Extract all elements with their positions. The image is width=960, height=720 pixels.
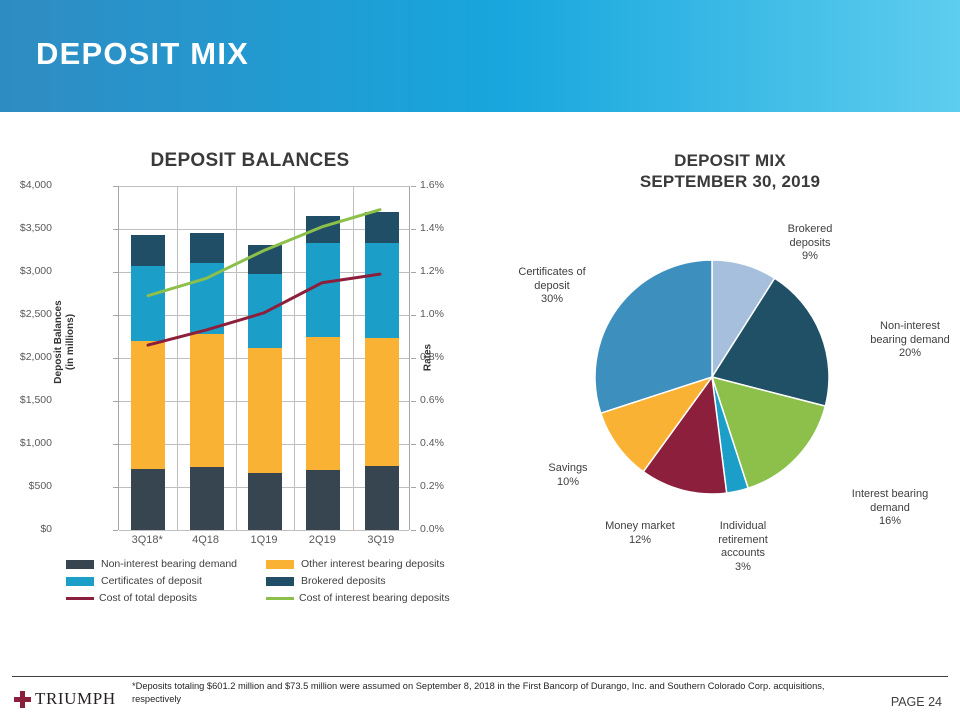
y2-axis-tick-label: 1.0% <box>420 308 444 320</box>
category-divider <box>177 186 178 530</box>
x-axis-label: 3Q19 <box>352 534 410 546</box>
legend-label: Cost of total deposits <box>99 592 197 604</box>
triumph-logo: TRIUMPH <box>14 689 116 709</box>
bar-plot-area <box>118 186 410 530</box>
bar-column <box>190 186 224 530</box>
bar-segment <box>131 341 165 470</box>
legend-item: Brokered deposits <box>266 575 466 587</box>
y2-axis-tick <box>411 272 416 273</box>
bar-segment <box>190 467 224 530</box>
legend-row: Non-interest bearing demandOther interes… <box>66 558 466 570</box>
category-divider <box>294 186 295 530</box>
y2-axis-tick-label: 0.0% <box>420 523 444 535</box>
bar-column <box>306 186 340 530</box>
bar-segment <box>190 263 224 335</box>
x-axis-labels: 3Q18*4Q181Q192Q193Q19 <box>118 532 410 554</box>
pie-title-line1: DEPOSIT MIX <box>530 150 930 171</box>
legend-label: Brokered deposits <box>301 575 386 587</box>
y2-axis-tick-label: 1.4% <box>420 222 444 234</box>
bar-segment <box>131 235 165 266</box>
x-axis-label: 4Q18 <box>177 534 235 546</box>
y2-axis-tick <box>411 401 416 402</box>
bar-segment <box>306 243 340 338</box>
bar-segment <box>248 274 282 348</box>
legend-item: Certificates of deposit <box>66 575 266 587</box>
pie-chart-title: DEPOSIT MIX SEPTEMBER 30, 2019 <box>530 150 930 192</box>
pie-slice-label: Certificates ofdeposit30% <box>500 266 604 307</box>
legend-label: Non-interest bearing demand <box>101 558 237 570</box>
legend-color-swatch <box>266 577 294 586</box>
legend-item: Other interest bearing deposits <box>266 558 466 570</box>
legend-line-swatch <box>266 597 294 600</box>
y2-axis-tick <box>411 444 416 445</box>
y2-axis-tick <box>411 358 416 359</box>
bar-series-group <box>119 186 409 530</box>
legend-color-swatch <box>266 560 294 569</box>
legend-label: Cost of interest bearing deposits <box>299 592 450 604</box>
y-axis-tick-label: $2,000 <box>20 351 52 363</box>
bar-column <box>248 186 282 530</box>
bar-segment <box>365 338 399 466</box>
bar-segment <box>248 473 282 530</box>
legend-item: Non-interest bearing demand <box>66 558 266 570</box>
legend-row: Cost of total depositsCost of interest b… <box>66 592 466 604</box>
y2-axis-tick-label: 0.6% <box>420 394 444 406</box>
pie-slice-label: Savings10% <box>525 462 611 489</box>
pie-slice-label: Individualretirementaccounts3% <box>698 520 788 574</box>
y-axis-tick-label: $0 <box>40 523 52 535</box>
bar-segment <box>365 243 399 338</box>
bar-segment <box>365 212 399 243</box>
y2-axis-tick-label: 1.6% <box>420 179 444 191</box>
y2-axis-tick-label: 1.2% <box>420 265 444 277</box>
legend-color-swatch <box>66 577 94 586</box>
y2-axis-tick <box>411 487 416 488</box>
y-axis-title: Deposit Balances(in millions) <box>53 267 77 417</box>
y2-axis-tick <box>411 315 416 316</box>
y-axis-tick-label: $1,000 <box>20 437 52 449</box>
slide-header: DEPOSIT MIX <box>0 0 960 112</box>
pie-title-line2: SEPTEMBER 30, 2019 <box>530 171 930 192</box>
y2-axis-tick-label: 0.8% <box>420 351 444 363</box>
slide: DEPOSIT MIX DEPOSIT BALANCES DEPOSIT MIX… <box>0 0 960 720</box>
y2-axis-tick <box>411 186 416 187</box>
pie-slice-label: Non-interestbearing demand20% <box>850 320 960 361</box>
page-title: DEPOSIT MIX <box>36 36 249 72</box>
bar-segment <box>248 245 282 274</box>
legend-label: Other interest bearing deposits <box>301 558 445 570</box>
y-axis-tick-label: $1,500 <box>20 394 52 406</box>
bar-segment <box>306 216 340 243</box>
page-number: PAGE 24 <box>891 695 942 709</box>
bar-segment <box>306 470 340 530</box>
footnote: *Deposits totaling $601.2 million and $7… <box>132 680 872 706</box>
y-axis-tick-label: $3,500 <box>20 222 52 234</box>
legend-row: Certificates of depositBrokered deposits <box>66 575 466 587</box>
deposit-balances-chart: Deposit Balances(in millions) Rates $0$5… <box>0 180 470 540</box>
y-axis-tick-label: $3,000 <box>20 265 52 277</box>
y2-axis-tick-label: 0.4% <box>420 437 444 449</box>
bar-segment <box>190 334 224 467</box>
x-axis-label: 3Q18* <box>118 534 176 546</box>
bar-column <box>131 186 165 530</box>
legend-color-swatch <box>66 560 94 569</box>
bar-chart-legend: Non-interest bearing demandOther interes… <box>66 558 466 609</box>
y-axis-tick <box>113 530 118 531</box>
x-axis-label: 1Q19 <box>235 534 293 546</box>
cross-icon <box>14 691 31 708</box>
bar-segment <box>365 466 399 530</box>
y-axis-tick-label: $4,000 <box>20 179 52 191</box>
gridline <box>119 530 409 531</box>
x-axis-label: 2Q19 <box>293 534 351 546</box>
category-divider <box>236 186 237 530</box>
bar-segment <box>131 266 165 341</box>
pie-slice-label: Interest bearingdemand16% <box>835 488 945 529</box>
pie-slice-label: Brokereddeposits9% <box>755 223 865 264</box>
y-axis-tick-label: $500 <box>29 480 52 492</box>
bar-column <box>365 186 399 530</box>
bar-segment <box>306 337 340 469</box>
legend-item: Cost of total deposits <box>66 592 266 604</box>
legend-item: Cost of interest bearing deposits <box>266 592 466 604</box>
legend-label: Certificates of deposit <box>101 575 202 587</box>
footer-divider <box>12 676 948 677</box>
bar-segment <box>190 233 224 262</box>
bar-segment <box>248 348 282 473</box>
bar-segment <box>131 469 165 530</box>
y2-axis-tick-label: 0.2% <box>420 480 444 492</box>
y-axis-tick-label: $2,500 <box>20 308 52 320</box>
logo-text: TRIUMPH <box>35 689 116 709</box>
deposit-mix-pie-chart: Brokereddeposits9%Non-interestbearing de… <box>480 230 960 590</box>
y2-axis-tick <box>411 530 416 531</box>
pie-slice-label: Money market12% <box>585 520 695 547</box>
category-divider <box>353 186 354 530</box>
bar-chart-title: DEPOSIT BALANCES <box>60 150 440 172</box>
y2-axis-tick <box>411 229 416 230</box>
legend-line-swatch <box>66 597 94 600</box>
